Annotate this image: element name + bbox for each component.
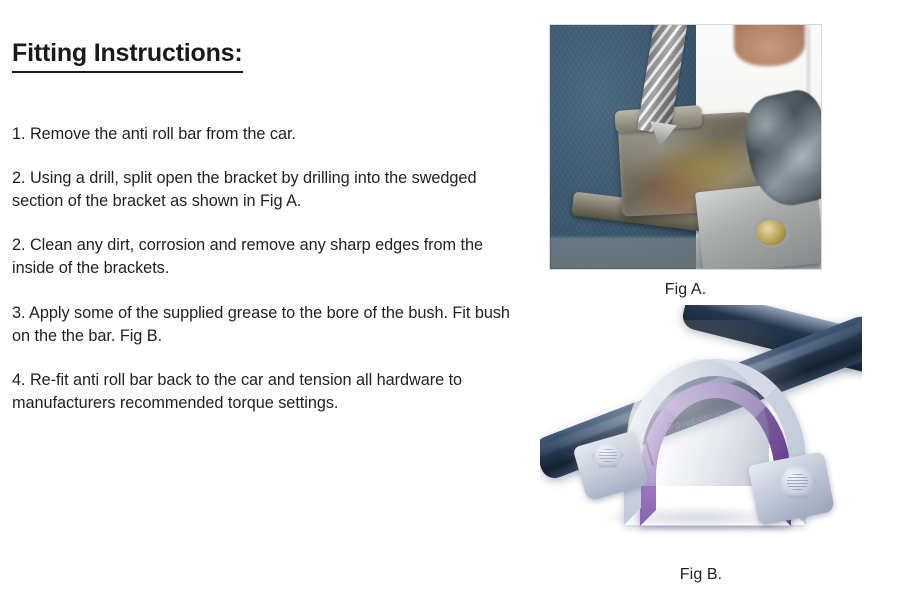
- figure-a-caption: Fig A.: [549, 281, 822, 299]
- instruction-step: 1. Remove the anti roll bar from the car…: [12, 123, 522, 146]
- instruction-step: 4. Re-fit anti roll bar back to the car …: [12, 369, 522, 415]
- page-title: Fitting Instructions:: [12, 40, 243, 73]
- figure-b-caption: Fig B.: [540, 566, 862, 584]
- figure-a-image: [549, 24, 822, 270]
- instruction-step: 2. Using a drill, split open the bracket…: [12, 167, 522, 213]
- instruction-step: 3. Apply some of the supplied grease to …: [12, 302, 522, 348]
- figure-b: POWERFLEX Fig B.: [540, 305, 870, 584]
- figure-a: Fig A.: [549, 24, 839, 299]
- document-page: Fitting Instructions: 1. Remove the anti…: [0, 0, 900, 605]
- instruction-step-list: 1. Remove the anti roll bar from the car…: [12, 123, 532, 415]
- figure-b-image: POWERFLEX: [540, 305, 862, 560]
- instructions-column: Fitting Instructions: 1. Remove the anti…: [12, 40, 532, 415]
- figures-column: Fig A. POWERFLEX Fig B.: [540, 0, 900, 605]
- bolt-nut: [756, 220, 786, 244]
- instruction-step: 2. Clean any dirt, corrosion and remove …: [12, 234, 522, 280]
